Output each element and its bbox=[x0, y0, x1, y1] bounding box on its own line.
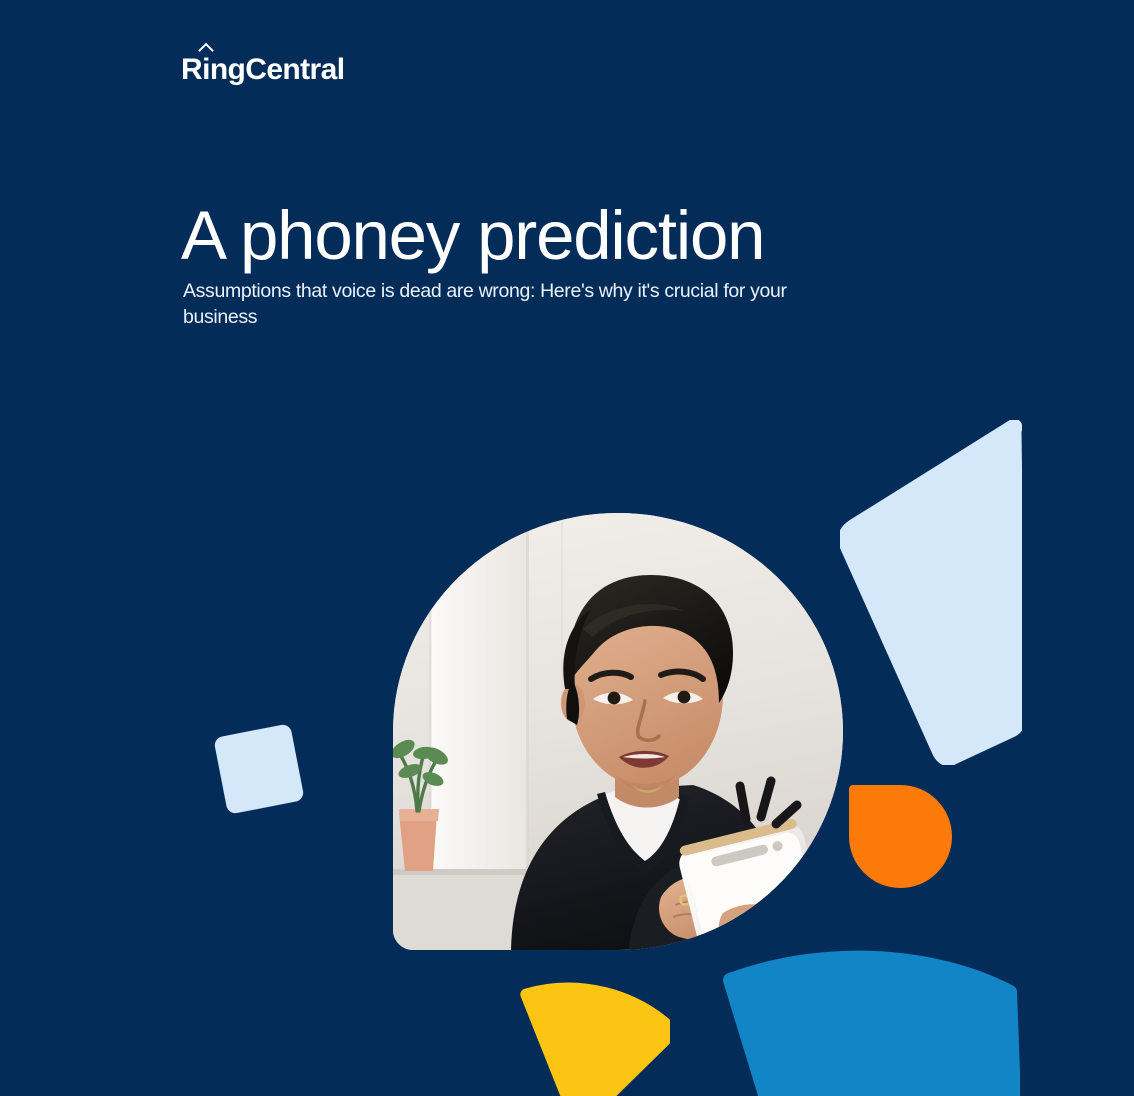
logo-text-rest: ngCentral bbox=[210, 53, 345, 86]
orange-droplet-icon bbox=[849, 785, 952, 888]
blue-fan-wedge-icon bbox=[718, 948, 1020, 1096]
pale-blue-quadrilateral-icon bbox=[840, 420, 1022, 765]
yellow-quarter-circle-icon bbox=[505, 975, 670, 1096]
logo-text-i: i bbox=[202, 53, 210, 86]
hero-photo bbox=[393, 513, 843, 950]
logo-text-r: R bbox=[181, 53, 202, 86]
page-subtitle: Assumptions that voice is dead are wrong… bbox=[183, 278, 803, 331]
ebook-cover-page: RingCentral A phoney prediction Assumpti… bbox=[0, 0, 1134, 1096]
ringcentral-logo[interactable]: RingCentral bbox=[181, 55, 344, 85]
logo-circumflex-accent: i bbox=[202, 55, 210, 85]
rounded-square-icon bbox=[213, 723, 304, 814]
page-title: A phoney prediction bbox=[181, 200, 961, 272]
